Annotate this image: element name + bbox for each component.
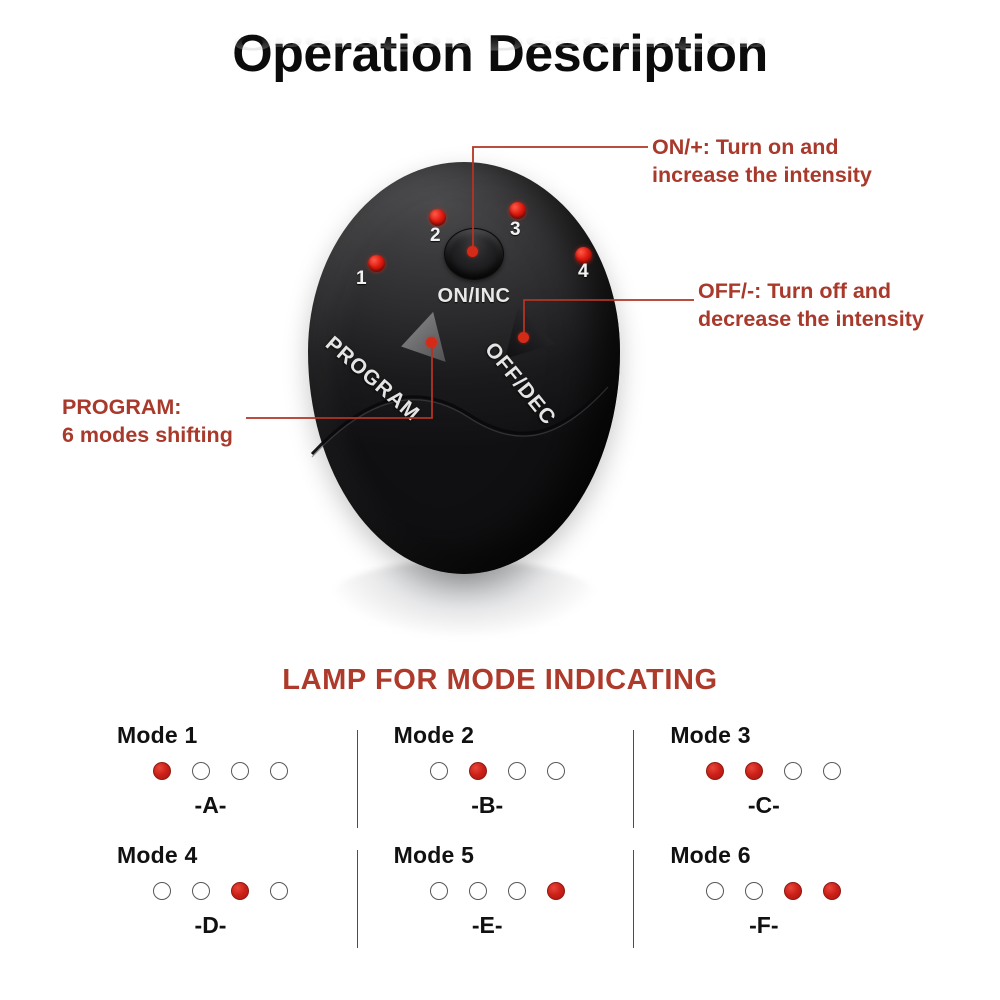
mode-letter: -C-	[706, 792, 821, 819]
mode-title: Mode 2	[394, 722, 649, 749]
lamp-indicator-4-on	[547, 882, 565, 900]
mode-title: Mode 1	[117, 722, 372, 749]
mode-indicator-grid: Mode 1-A-Mode 2-B-Mode 3-C-Mode 4-D-Mode…	[95, 722, 925, 962]
lamp-indicator-1-on	[153, 762, 171, 780]
mode-lamp-row	[153, 882, 372, 900]
seam-svg	[308, 376, 620, 541]
mode-cell: Mode 6-F-	[648, 842, 925, 962]
callout-program: PROGRAM: 6 modes shifting	[62, 393, 233, 450]
lamp-indicator-4-on	[823, 882, 841, 900]
mode-letter: -D-	[153, 912, 268, 939]
device-illustration: 1 2 3 4 ON/INC PROGRAM OFF/DEC ON/+: Tur…	[0, 0, 1000, 660]
lamp-indicator-2-off	[469, 882, 487, 900]
lamp-indicator-2-off	[745, 882, 763, 900]
device-led-2	[429, 209, 446, 226]
lamp-indicator-4-off	[270, 762, 288, 780]
lamp-indicator-3-on	[231, 882, 249, 900]
device-led-1	[368, 255, 385, 272]
mode-lamp-row	[430, 882, 649, 900]
lamp-indicator-1-off	[430, 882, 448, 900]
mode-title: Mode 4	[117, 842, 372, 869]
lamp-indicator-2-off	[192, 882, 210, 900]
device-led-3-number: 3	[510, 219, 521, 241]
lamp-indicator-1-on	[706, 762, 724, 780]
device-led-2-number: 2	[430, 225, 441, 247]
lamp-indicator-3-off	[508, 762, 526, 780]
lamp-indicator-3-off	[508, 882, 526, 900]
mode-title: Mode 3	[670, 722, 925, 749]
mode-lamp-row	[706, 882, 925, 900]
lamp-indicator-4-off	[547, 762, 565, 780]
device-led-4-number: 4	[578, 261, 589, 283]
lamp-indicator-1-off	[706, 882, 724, 900]
mode-cell: Mode 3-C-	[648, 722, 925, 842]
callout-on-increase: ON/+: Turn on and increase the intensity	[652, 133, 872, 190]
lamp-indicator-4-off	[823, 762, 841, 780]
lamp-indicator-2-on	[469, 762, 487, 780]
mode-lamp-row	[706, 762, 925, 780]
device-led-1-number: 1	[356, 268, 367, 290]
lamp-indicator-2-off	[192, 762, 210, 780]
mode-lamp-row	[430, 762, 649, 780]
lamp-indicator-1-off	[153, 882, 171, 900]
lamp-section-heading: LAMP FOR MODE INDICATING	[0, 664, 1000, 697]
lamp-indicator-1-off	[430, 762, 448, 780]
mode-cell: Mode 2-B-	[372, 722, 649, 842]
mode-cell: Mode 4-D-	[95, 842, 372, 962]
anchor-dot-program	[426, 337, 437, 348]
lamp-indicator-4-off	[270, 882, 288, 900]
lamp-indicator-3-off	[231, 762, 249, 780]
mode-cell: Mode 5-E-	[372, 842, 649, 962]
lamp-indicator-2-on	[745, 762, 763, 780]
mode-title: Mode 6	[670, 842, 925, 869]
mode-lamp-row	[153, 762, 372, 780]
mode-letter: -B-	[430, 792, 545, 819]
lamp-indicator-3-on	[784, 882, 802, 900]
mode-letter: -A-	[153, 792, 268, 819]
anchor-dot-off	[518, 332, 529, 343]
anchor-dot-on	[467, 246, 478, 257]
lamp-indicator-3-off	[784, 762, 802, 780]
mode-cell: Mode 1-A-	[95, 722, 372, 842]
device-led-3	[509, 202, 526, 219]
device-seam-line	[308, 376, 620, 541]
callout-off-decrease: OFF/-: Turn off and decrease the intensi…	[698, 277, 924, 334]
mode-letter: -F-	[706, 912, 821, 939]
mode-title: Mode 5	[394, 842, 649, 869]
mode-letter: -E-	[430, 912, 545, 939]
